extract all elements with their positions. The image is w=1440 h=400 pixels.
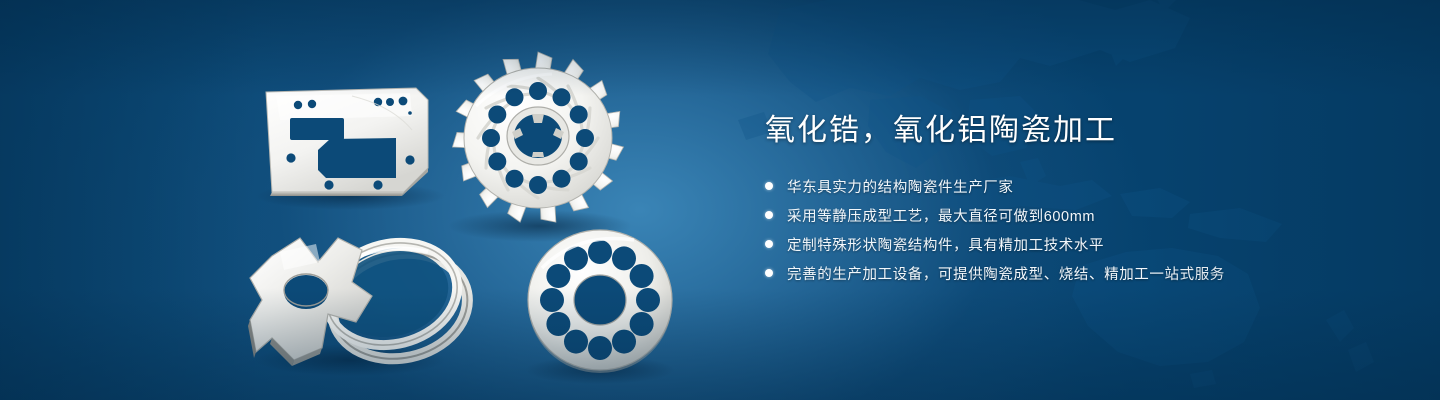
banner-feature-list: 华东具实力的结构陶瓷件生产厂家 采用等静压成型工艺，最大直径可做到600mm 定… [765,176,1405,284]
bullet-dot-icon [765,240,773,248]
feature-item: 定制特殊形状陶瓷结构件，具有精加工技术水平 [765,234,1405,255]
feature-text: 采用等静压成型工艺，最大直径可做到600mm [787,205,1095,226]
feature-text: 完善的生产加工设备，可提供陶瓷成型、烧结、精加工一站式服务 [787,263,1225,284]
bullet-dot-icon [765,211,773,219]
bullet-dot-icon [765,182,773,190]
hero-banner: 氧化锆，氧化铝陶瓷加工 华东具实力的结构陶瓷件生产厂家 采用等静压成型工艺，最大… [0,0,1440,400]
banner-copy: 氧化锆，氧化铝陶瓷加工 华东具实力的结构陶瓷件生产厂家 采用等静压成型工艺，最大… [765,112,1405,292]
bullet-dot-icon [765,269,773,277]
ceramic-impeller-rotor [451,52,624,225]
feature-item: 采用等静压成型工艺，最大直径可做到600mm [765,205,1405,226]
feature-text: 定制特殊形状陶瓷结构件，具有精加工技术水平 [787,234,1104,255]
feature-item: 华东具实力的结构陶瓷件生产厂家 [765,176,1405,197]
feature-text: 华东具实力的结构陶瓷件生产厂家 [787,176,1014,197]
product-image-group [0,0,740,400]
ceramic-perforated-disc [528,230,672,373]
banner-headline: 氧化锆，氧化铝陶瓷加工 [765,112,1405,150]
feature-item: 完善的生产加工设备，可提供陶瓷成型、烧结、精加工一站式服务 [765,263,1405,284]
ceramic-flat-plate [266,88,428,196]
